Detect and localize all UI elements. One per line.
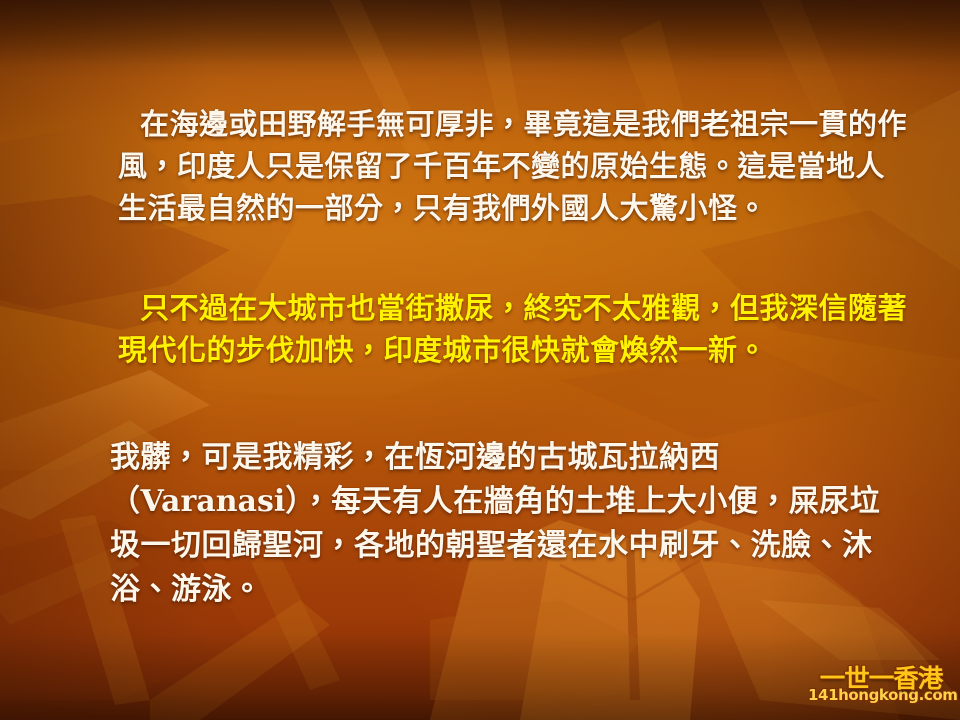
paragraph-3: 我髒，可是我精彩，在恆河邊的古城瓦拉納西（Varanasi），每天有人在牆角的土… [110,436,910,612]
site-watermark: 一世一香港 141hongkong.com [808,666,954,716]
paragraph-3-latin-term: Varanasi [141,484,286,519]
paragraph-2: 只不過在大城市也當街撒尿，終究不太雅觀，但我深信隨著現代化的步伐加快，印度城市很… [118,287,908,371]
slide-canvas: 在海邊或田野解手無可厚非，畢竟這是我們老祖宗一貫的作風，印度人只是保留了千百年不… [0,0,960,720]
paragraph-1: 在海邊或田野解手無可厚非，畢竟這是我們老祖宗一貫的作風，印度人只是保留了千百年不… [118,103,908,229]
slide-text-content: 在海邊或田野解手無可厚非，畢竟這是我們老祖宗一貫的作風，印度人只是保留了千百年不… [0,0,960,720]
watermark-chinese-label: 一世一香港 [807,666,956,691]
